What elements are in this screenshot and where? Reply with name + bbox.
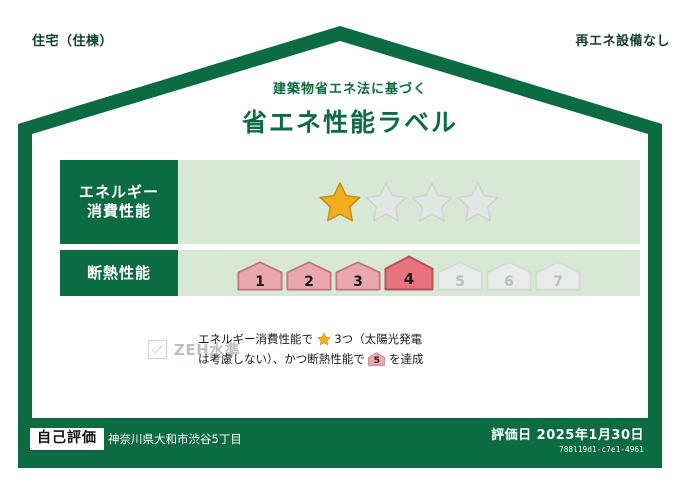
evaluation-date-label: 評価日 [491, 428, 532, 443]
insulation-grade-number: 3 [335, 275, 381, 289]
zeh-checkbox-icon [148, 340, 167, 359]
inline-star-icon [317, 332, 331, 346]
insulation-grade-number: 2 [286, 275, 332, 289]
row-energy-label: エネルギー 消費性能 [60, 160, 178, 244]
insulation-grade-number: 5 [437, 275, 483, 289]
assessment-type-badge: 自己評価 [30, 428, 104, 449]
insulation-grade-2: 2 [286, 261, 332, 291]
tab-renewable-status: 再エネ設備なし [563, 26, 682, 56]
tab-building-type: 住宅（住棟） [18, 26, 123, 56]
insulation-grade-3: 3 [335, 261, 381, 291]
zeh-description-line1: エネルギー消費性能で 3つ（太陽光発電 [198, 330, 640, 350]
insulation-grade-number: 4 [384, 272, 434, 287]
zeh-desc-line1-b: 3つ（太陽光発電 [334, 332, 422, 346]
insulation-grade-number: 7 [535, 275, 581, 289]
footer-right: 評価日 2025年1月30日 788l19d1-c7e1-4961 [491, 424, 650, 454]
row-insulation-label-line1: 断熱性能 [87, 264, 151, 283]
insulation-grade-5: 5 [437, 261, 483, 291]
insulation-grade-6: 6 [486, 261, 532, 291]
energy-performance-label: 住宅（住棟） 再エネ設備なし 建築物省エネ法に基づく 省エネ性能ラベル エネルギ… [0, 0, 700, 494]
insulation-grade-scale: 1234567 [237, 255, 581, 291]
row-energy-performance: エネルギー 消費性能 [60, 160, 640, 244]
inline-grade-number: 5 [368, 357, 385, 366]
insulation-grade-4: 4 [384, 255, 434, 291]
star-empty-icon [456, 180, 500, 224]
star-empty-icon [364, 180, 408, 224]
tab-renewable-status-label: 再エネ設備なし [575, 35, 670, 48]
row-energy-label-line2: 消費性能 [87, 202, 151, 221]
zeh-desc-line2-a: は考慮しない）、かつ断熱性能で [198, 352, 365, 366]
zeh-badge: ZEH水準 [60, 339, 190, 360]
star-rating [318, 180, 500, 224]
zeh-desc-line2-b: を達成 [389, 352, 424, 366]
zeh-desc-line1-a: エネルギー消費性能で [198, 332, 313, 346]
zeh-standard-area: ZEH水準 エネルギー消費性能で 3つ（太陽光発電 は考慮しない）、かつ断熱性能… [60, 330, 640, 369]
row-insulation-value: 1234567 [178, 250, 640, 296]
property-address: 神奈川県大和市渋谷5丁目 [108, 431, 242, 447]
row-insulation-label: 断熱性能 [60, 250, 178, 296]
insulation-grade-7: 7 [535, 261, 581, 291]
insulation-grade-number: 6 [486, 275, 532, 289]
zeh-description-line2: は考慮しない）、かつ断熱性能で 5 を達成 [198, 350, 640, 370]
footer: 自己評価 神奈川県大和市渋谷5丁目 評価日 2025年1月30日 788l19d… [30, 422, 650, 456]
inline-grade-marker-icon: 5 [368, 352, 385, 366]
document-id: 788l19d1-c7e1-4961 [491, 445, 644, 454]
row-energy-label-line1: エネルギー [79, 183, 159, 202]
star-empty-icon [410, 180, 454, 224]
zeh-description: エネルギー消費性能で 3つ（太陽光発電 は考慮しない）、かつ断熱性能で 5 を達… [190, 330, 640, 369]
row-insulation-performance: 断熱性能 1234567 [60, 250, 640, 296]
insulation-grade-1: 1 [237, 261, 283, 291]
row-energy-value [178, 160, 640, 244]
star-filled-icon [318, 180, 362, 224]
evaluation-date: 評価日 2025年1月30日 [491, 424, 644, 443]
performance-rows: エネルギー 消費性能 断熱性能 1234567 [60, 160, 640, 302]
evaluation-date-value: 2025年1月30日 [537, 428, 644, 443]
insulation-grade-number: 1 [237, 275, 283, 289]
tab-building-type-label: 住宅（住棟） [32, 35, 113, 48]
